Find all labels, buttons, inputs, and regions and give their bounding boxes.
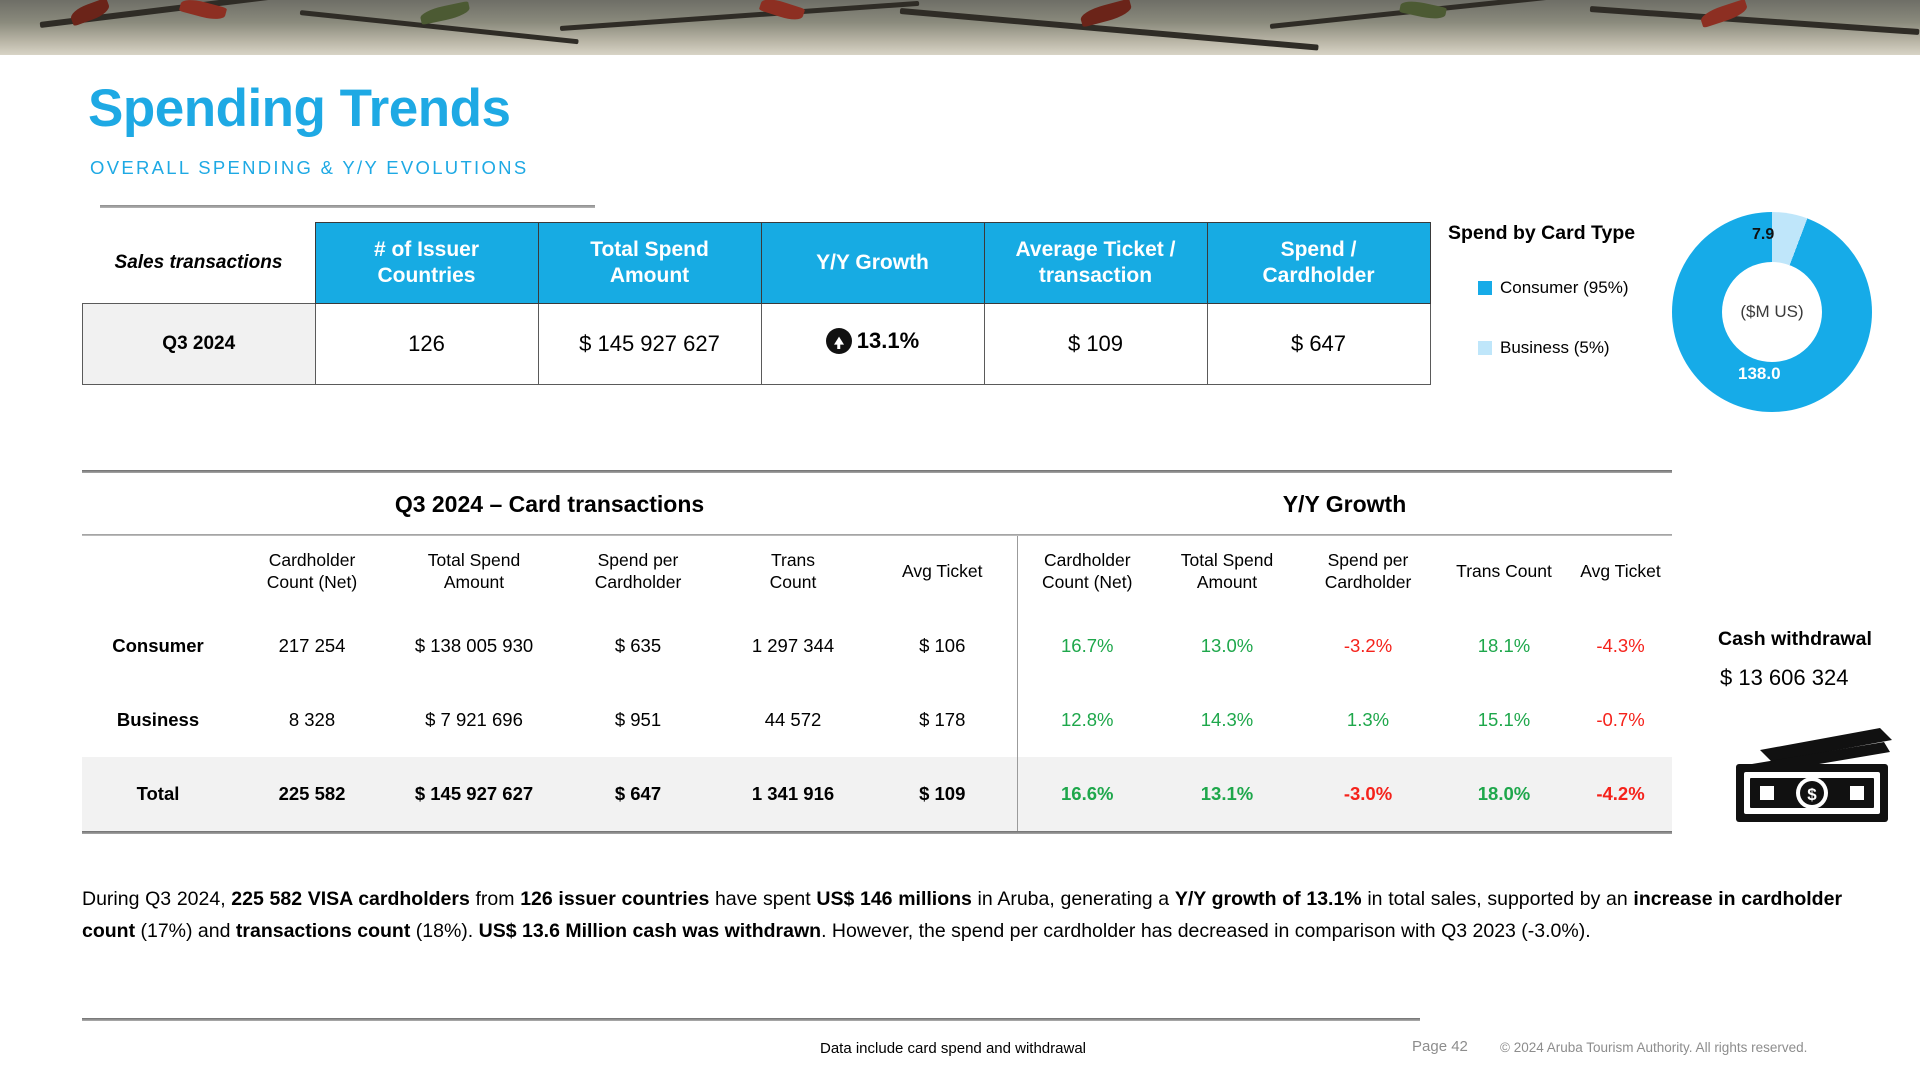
row-label-business: Business <box>82 683 234 757</box>
donut-center-label: ($M US) <box>1722 262 1822 362</box>
group-header-yy-growth: Y/Y Growth <box>1017 473 1672 534</box>
cell-business-growth-cardholder-count: 12.8% <box>1017 683 1157 757</box>
svg-text:$: $ <box>1807 785 1817 804</box>
cell-consumer-growth-spend-per-cardholder: -3.2% <box>1297 609 1439 683</box>
card-transactions-grid: CardholderCount (Net) Total SpendAmount … <box>82 536 1672 831</box>
cell-consumer-growth-total-spend: 13.0% <box>1157 609 1297 683</box>
cell-total-growth-cardholder-count: 16.6% <box>1017 757 1157 831</box>
legend-label-business: Business (5%) <box>1500 338 1610 358</box>
cell-business-spend-per-cardholder: $ 951 <box>558 683 718 757</box>
legend-swatch-business-icon <box>1478 341 1492 355</box>
summary-value-yy-growth: 13.1% <box>761 304 984 385</box>
cell-business-avg-ticket: $ 178 <box>868 683 1017 757</box>
cell-total-growth-avg-ticket: -4.2% <box>1569 757 1672 831</box>
cell-consumer-total-spend: $ 138 005 930 <box>390 609 558 683</box>
table-row: Consumer 217 254 $ 138 005 930 $ 635 1 2… <box>82 609 1672 683</box>
col-header-growth-avg-ticket: Avg Ticket <box>1569 536 1672 609</box>
summary-row-period: Q3 2024 <box>83 304 316 385</box>
cell-business-cardholder-count: 8 328 <box>234 683 390 757</box>
col-header-growth-trans-count: Trans Count <box>1439 536 1569 609</box>
footer-divider <box>82 1018 1420 1021</box>
cell-total-avg-ticket: $ 109 <box>868 757 1017 831</box>
summary-value-spend-cardholder: $ 647 <box>1207 304 1430 385</box>
legend-label-consumer: Consumer (95%) <box>1500 278 1629 298</box>
col-header-blank <box>82 536 234 609</box>
row-label-total: Total <box>82 757 234 831</box>
legend-item-business: Business (5%) <box>1478 338 1629 358</box>
summary-col-total-spend: Total SpendAmount <box>538 223 761 304</box>
footer-copyright: © 2024 Aruba Tourism Authority. All righ… <box>1500 1040 1807 1055</box>
summary-value-issuer-countries: 126 <box>315 304 538 385</box>
summary-paragraph: During Q3 2024, 225 582 VISA cardholders… <box>82 884 1842 947</box>
cell-business-growth-avg-ticket: -0.7% <box>1569 683 1672 757</box>
paragraph-text: During Q3 2024, 225 582 VISA cardholders… <box>82 888 1842 942</box>
cell-total-trans-count: 1 341 916 <box>718 757 868 831</box>
cell-total-cardholder-count: 225 582 <box>234 757 390 831</box>
cell-total-growth-trans-count: 18.0% <box>1439 757 1569 831</box>
cash-withdrawal-title: Cash withdrawal <box>1718 628 1872 651</box>
page-title: Spending Trends <box>88 78 510 139</box>
col-header-growth-total-spend-amount: Total SpendAmount <box>1157 536 1297 609</box>
card-transactions-table: Q3 2024 – Card transactions Y/Y Growth C… <box>82 470 1672 834</box>
title-divider <box>100 205 595 208</box>
table-group-header-row: Q3 2024 – Card transactions Y/Y Growth <box>82 473 1672 534</box>
table-row: Business 8 328 $ 7 921 696 $ 951 44 572 … <box>82 683 1672 757</box>
cell-consumer-trans-count: 1 297 344 <box>718 609 868 683</box>
cell-business-growth-total-spend: 14.3% <box>1157 683 1297 757</box>
table-row: Total 225 582 $ 145 927 627 $ 647 1 341 … <box>82 757 1672 831</box>
row-label-consumer: Consumer <box>82 609 234 683</box>
col-header-growth-cardholder-count: CardholderCount (Net) <box>1017 536 1157 609</box>
table-column-header-row: CardholderCount (Net) Total SpendAmount … <box>82 536 1672 609</box>
cell-total-growth-spend-per-cardholder: -3.0% <box>1297 757 1439 831</box>
summary-table-data-row: Q3 2024 126 $ 145 927 627 13.1% $ 109 $ … <box>83 304 1431 385</box>
cash-banknotes-icon: $ <box>1730 720 1898 825</box>
chart-title: Spend by Card Type <box>1448 222 1635 245</box>
table-bottom-border <box>82 831 1672 834</box>
col-header-spend-per-cardholder: Spend perCardholder <box>558 536 718 609</box>
growth-up-arrow-icon <box>826 328 852 354</box>
cell-business-growth-trans-count: 15.1% <box>1439 683 1569 757</box>
donut-label-consumer: 138.0 <box>1738 364 1781 384</box>
spend-by-card-type-donut-chart: ($M US) 7.9 138.0 <box>1672 212 1872 412</box>
col-header-total-spend-amount: Total SpendAmount <box>390 536 558 609</box>
col-header-growth-spend-per-cardholder: Spend perCardholder <box>1297 536 1439 609</box>
header-photo-banner <box>0 0 1920 55</box>
growth-value-text: 13.1% <box>857 328 919 354</box>
summary-value-average-ticket: $ 109 <box>984 304 1207 385</box>
group-header-card-transactions: Q3 2024 – Card transactions <box>82 473 1017 534</box>
legend-swatch-consumer-icon <box>1478 281 1492 295</box>
cell-business-growth-spend-per-cardholder: 1.3% <box>1297 683 1439 757</box>
cell-consumer-cardholder-count: 217 254 <box>234 609 390 683</box>
cell-total-total-spend: $ 145 927 627 <box>390 757 558 831</box>
summary-table: Sales transactions # of IssuerCountries … <box>82 222 1431 385</box>
cell-consumer-spend-per-cardholder: $ 635 <box>558 609 718 683</box>
footer-page-number: Page 42 <box>1412 1038 1468 1055</box>
summary-col-issuer-countries: # of IssuerCountries <box>315 223 538 304</box>
donut-label-business: 7.9 <box>1752 226 1774 244</box>
summary-col-average-ticket: Average Ticket /transaction <box>984 223 1207 304</box>
summary-table-header-row: Sales transactions # of IssuerCountries … <box>83 223 1431 304</box>
col-header-avg-ticket: Avg Ticket <box>868 536 1017 609</box>
col-header-cardholder-count: CardholderCount (Net) <box>234 536 390 609</box>
summary-value-total-spend: $ 145 927 627 <box>538 304 761 385</box>
cash-withdrawal-value: $ 13 606 324 <box>1720 665 1848 691</box>
cell-consumer-avg-ticket: $ 106 <box>868 609 1017 683</box>
cell-business-trans-count: 44 572 <box>718 683 868 757</box>
summary-row-label-header: Sales transactions <box>83 223 316 304</box>
summary-col-spend-cardholder: Spend /Cardholder <box>1207 223 1430 304</box>
col-header-trans-count: TransCount <box>718 536 868 609</box>
footer-note: Data include card spend and withdrawal <box>820 1040 1086 1057</box>
legend-item-consumer: Consumer (95%) <box>1478 278 1629 298</box>
cell-consumer-growth-cardholder-count: 16.7% <box>1017 609 1157 683</box>
cell-consumer-growth-avg-ticket: -4.3% <box>1569 609 1672 683</box>
cell-business-total-spend: $ 7 921 696 <box>390 683 558 757</box>
cell-total-growth-total-spend: 13.1% <box>1157 757 1297 831</box>
summary-col-yy-growth: Y/Y Growth <box>761 223 984 304</box>
cell-consumer-growth-trans-count: 18.1% <box>1439 609 1569 683</box>
page-subtitle: OVERALL SPENDING & Y/Y EVOLUTIONS <box>90 157 528 179</box>
chart-legend: Consumer (95%) Business (5%) <box>1478 278 1629 398</box>
cell-total-spend-per-cardholder: $ 647 <box>558 757 718 831</box>
